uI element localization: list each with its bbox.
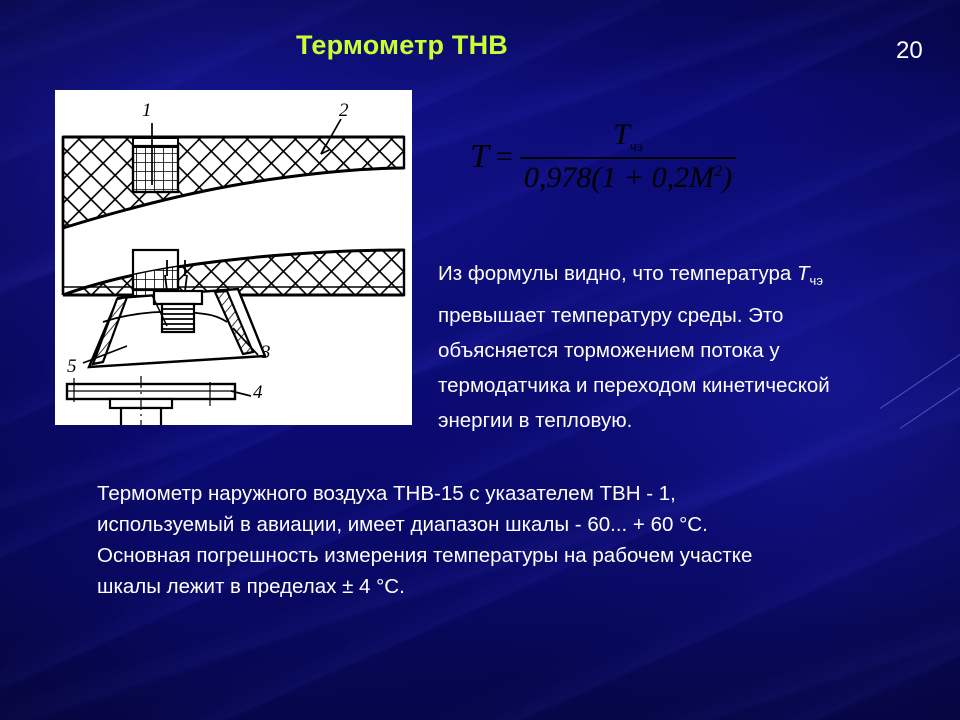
inline-symbol-T: T [797,262,810,285]
specification-paragraph: Термометр наружного воздуха ТНВ-15 с ука… [97,478,927,602]
svg-text:1: 1 [142,100,152,121]
formula-denominator: 0,978(1 + 0,2M2) [520,159,736,195]
figure-panel: 1 2 [55,90,412,425]
specification-line-1: Термометр наружного воздуха ТНВ-15 с ука… [97,478,927,509]
svg-text:2: 2 [339,100,349,121]
formula-numerator: Tчэ [607,118,649,157]
specification-line-2: используемый в авиации, имеет диапазон ш… [97,509,927,540]
specification-line-4: шкалы лежит в пределах ± 4 °С. [97,571,927,602]
formula-equals: = [496,140,513,174]
formula-denominator-prefix: 0,978(1 + 0,2 [524,161,689,194]
formula-denominator-exponent: 2 [714,163,722,180]
formula-lhs: T [470,138,489,176]
formula-numerator-var: T [613,118,630,151]
thermometer-diagram: 1 2 [55,90,412,425]
inline-symbol-subscript: чэ [810,273,823,288]
page-number: 20 [896,37,923,65]
slide-canvas: Термометр ТНВ 20 [0,0,960,720]
explanation-line-4: термодатчика и переходом кинетической [438,368,938,403]
explanation-line-1: Из формулы видно, что температура Tчэ [438,256,938,298]
svg-text:3: 3 [260,342,271,363]
explanation-line-3: объясняется торможением потока у [438,333,938,368]
specification-line-3: Основная погрешность измерения температу… [97,540,927,571]
page-title: Термометр ТНВ [296,30,508,61]
explanation-line-5: энергии в тепловую. [438,403,938,438]
formula-numerator-subscript: чэ [630,140,643,155]
svg-text:4: 4 [253,382,263,403]
temperature-formula: T = Tчэ 0,978(1 + 0,2M2) [470,118,840,195]
formula-fraction: Tчэ 0,978(1 + 0,2M2) [520,118,736,195]
svg-text:5: 5 [67,356,77,377]
explanation-paragraph: Из формулы видно, что температура Tчэ пр… [438,256,938,438]
explanation-line-2: превышает температуру среды. Это [438,298,938,333]
formula-denominator-var: M [689,161,714,194]
formula-denominator-suffix: ) [722,161,732,194]
explanation-line-1-text: Из формулы видно, что температура [438,262,797,285]
